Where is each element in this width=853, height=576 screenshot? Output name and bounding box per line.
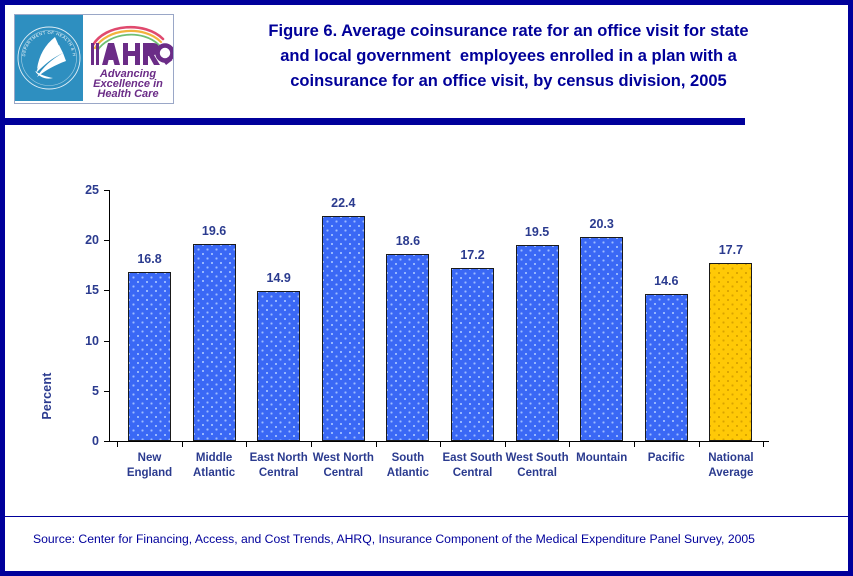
bar — [257, 291, 300, 441]
category-label: New England — [114, 451, 185, 481]
y-tick-label: 0 — [73, 435, 99, 447]
y-tick-label: 5 — [73, 385, 99, 397]
x-tick-mark — [311, 442, 312, 447]
category-label: Middle Atlantic — [179, 451, 250, 481]
bar-value-label: 14.9 — [246, 272, 311, 285]
y-tick-mark — [104, 441, 110, 442]
x-tick-mark — [505, 442, 506, 447]
y-tick-label: 15 — [73, 284, 99, 296]
x-axis-line — [109, 441, 769, 442]
bar-value-label: 17.7 — [698, 244, 763, 257]
bar-value-label: 18.6 — [375, 235, 440, 248]
bar-value-label: 22.4 — [311, 197, 376, 210]
category-label: East North Central — [243, 451, 314, 481]
y-tick-label: 25 — [73, 184, 99, 196]
category-label: West North Central — [308, 451, 379, 481]
bar — [516, 245, 559, 441]
category-label: West South Central — [502, 451, 573, 481]
bar-chart: Percent 0510152025 16.819.614.922.418.61… — [5, 131, 848, 516]
footer-divider — [5, 516, 848, 517]
x-tick-mark — [440, 442, 441, 447]
y-axis-line — [109, 190, 110, 442]
bar — [322, 216, 365, 441]
header-divider — [5, 118, 745, 125]
figure-header: DEPARTMENT OF HEALTH & HUMAN SERVICES — [5, 5, 848, 110]
category-label: East South Central — [437, 451, 508, 481]
y-tick-label: 10 — [73, 335, 99, 347]
category-label: Mountain — [566, 451, 637, 466]
bar — [451, 268, 494, 441]
bar — [645, 294, 688, 441]
y-tick-label: 20 — [73, 234, 99, 246]
source-note: Source: Center for Financing, Access, an… — [33, 532, 755, 546]
category-label: National Average — [695, 451, 766, 481]
bar — [128, 272, 171, 441]
bar-value-label: 14.6 — [634, 275, 699, 288]
y-tick-mark — [104, 190, 110, 191]
x-tick-mark — [182, 442, 183, 447]
bar — [580, 237, 623, 441]
x-tick-mark — [763, 442, 764, 447]
bar — [709, 263, 752, 441]
category-label: South Atlantic — [372, 451, 443, 481]
x-tick-mark — [569, 442, 570, 447]
bar-value-label: 19.6 — [182, 225, 247, 238]
bar — [386, 254, 429, 441]
y-axis-label: Percent — [40, 336, 54, 456]
figure-title: Figure 6. Average coinsurance rate for a… — [181, 19, 836, 94]
y-tick-mark — [104, 290, 110, 291]
hhs-seal-icon: DEPARTMENT OF HEALTH & HUMAN SERVICES — [15, 15, 83, 101]
x-tick-mark — [117, 442, 118, 447]
bar-value-label: 19.5 — [505, 226, 570, 239]
x-tick-mark — [699, 442, 700, 447]
svg-text:Health Care: Health Care — [97, 88, 158, 100]
x-tick-mark — [246, 442, 247, 447]
figure-page: DEPARTMENT OF HEALTH & HUMAN SERVICES — [0, 0, 853, 576]
x-tick-mark — [634, 442, 635, 447]
category-label: Pacific — [631, 451, 702, 466]
bar-value-label: 17.2 — [440, 249, 505, 262]
y-tick-mark — [104, 240, 110, 241]
ahrq-logo: DEPARTMENT OF HEALTH & HUMAN SERVICES — [14, 14, 174, 104]
y-tick-mark — [104, 341, 110, 342]
bar — [193, 244, 236, 441]
ahrq-wordmark: Advancing Excellence in Health Care — [83, 15, 173, 101]
bar-value-label: 20.3 — [569, 218, 634, 231]
y-tick-mark — [104, 391, 110, 392]
x-tick-mark — [376, 442, 377, 447]
bar-value-label: 16.8 — [117, 253, 182, 266]
